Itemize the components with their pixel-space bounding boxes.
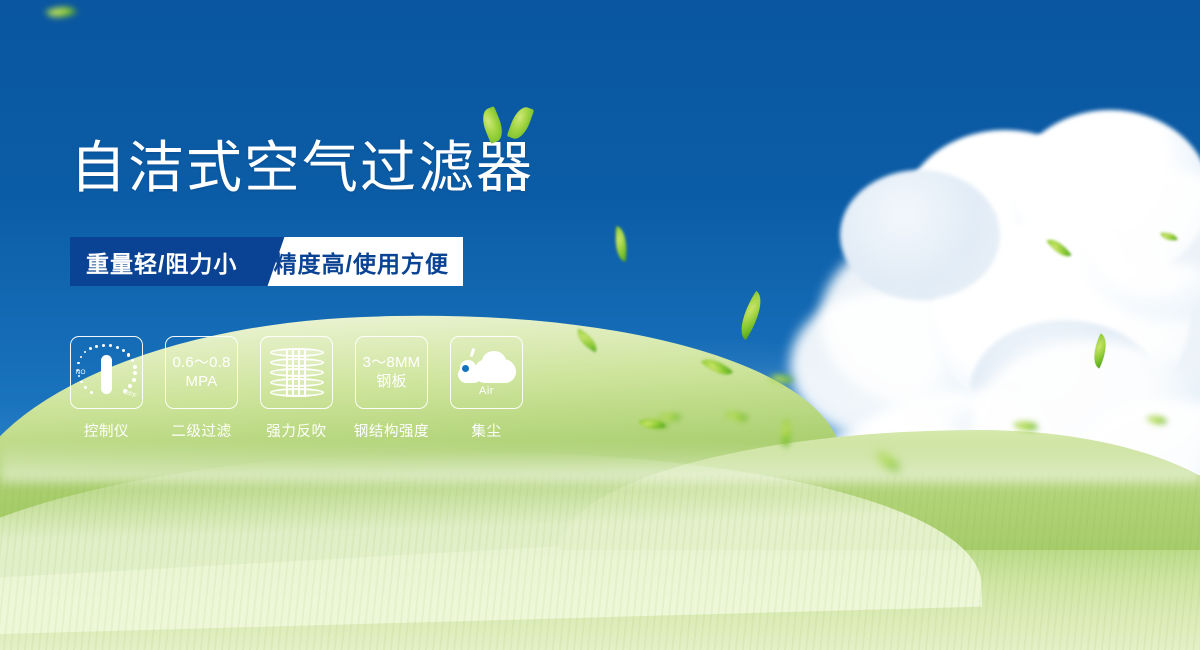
grass-texture bbox=[0, 475, 1200, 650]
feature-label: 控制仪 bbox=[84, 420, 129, 441]
gauge-no-label: NO bbox=[76, 369, 86, 376]
floating-leaf bbox=[1047, 234, 1072, 262]
tagline-banner: 重量轻/阻力小 精度高/使用方便 bbox=[70, 237, 463, 286]
feature-item-blowback[interactable]: 强力反吹 bbox=[260, 336, 333, 441]
grass-field bbox=[0, 475, 1200, 650]
pressure-text-icon: 0.6～0.8 MPA bbox=[172, 354, 230, 391]
feature-label: 集尘 bbox=[471, 420, 501, 441]
horizon-glow bbox=[0, 442, 1200, 482]
gauge-dial-icon: NO OFF bbox=[77, 344, 137, 402]
floating-leaf bbox=[45, 0, 76, 24]
floating-leaf bbox=[1147, 413, 1167, 427]
filter-stack-icon bbox=[270, 346, 324, 400]
cloud-air-icon bbox=[458, 349, 516, 383]
tagline-left: 重量轻/阻力小 bbox=[70, 237, 262, 286]
page-title-text: 自洁式空气过滤器 bbox=[70, 136, 534, 199]
feature-icon-box: Air bbox=[450, 336, 523, 409]
feature-label: 强力反吹 bbox=[266, 420, 326, 441]
feature-label: 钢结构强度 bbox=[354, 420, 430, 441]
feature-item-control[interactable]: NO OFF 控制仪 bbox=[70, 336, 143, 441]
air-label: Air bbox=[479, 385, 494, 397]
feature-icon-box: 0.6～0.8 MPA bbox=[165, 336, 238, 409]
feature-item-steel[interactable]: 3～8MM 钢板 钢结构强度 bbox=[355, 336, 428, 441]
hero-banner: 自洁式空气过滤器 重量轻/阻力小 精度高/使用方便 bbox=[0, 0, 1200, 650]
floating-leaf bbox=[1087, 334, 1114, 369]
feature-item-dust[interactable]: Air 集尘 bbox=[450, 336, 523, 441]
tagline-left-text: 重量轻/阻力小 bbox=[86, 245, 237, 279]
feature-list: NO OFF 控制仪 0.6～0.8 MPA 二级过滤 bbox=[70, 336, 523, 441]
steel-plate-text-icon: 3～8MM 钢板 bbox=[363, 354, 421, 391]
feature-item-pressure[interactable]: 0.6～0.8 MPA 二级过滤 bbox=[165, 336, 238, 441]
floating-leaf bbox=[731, 291, 772, 340]
page-title: 自洁式空气过滤器 bbox=[70, 140, 534, 196]
leaf-sprout-icon bbox=[472, 102, 542, 146]
feature-icon-box bbox=[260, 336, 333, 409]
feature-label: 二级过滤 bbox=[171, 420, 231, 441]
floating-leaf bbox=[612, 226, 631, 262]
feature-icon-box: 3～8MM 钢板 bbox=[355, 336, 428, 409]
cloud-right-cumulus bbox=[780, 110, 1200, 440]
gauge-off-label: OFF bbox=[122, 388, 138, 400]
tagline-right-text: 精度高/使用方便 bbox=[274, 245, 449, 279]
floating-leaf bbox=[1160, 231, 1177, 242]
feature-icon-box: NO OFF bbox=[70, 336, 143, 409]
tagline-right: 精度高/使用方便 bbox=[262, 237, 463, 286]
